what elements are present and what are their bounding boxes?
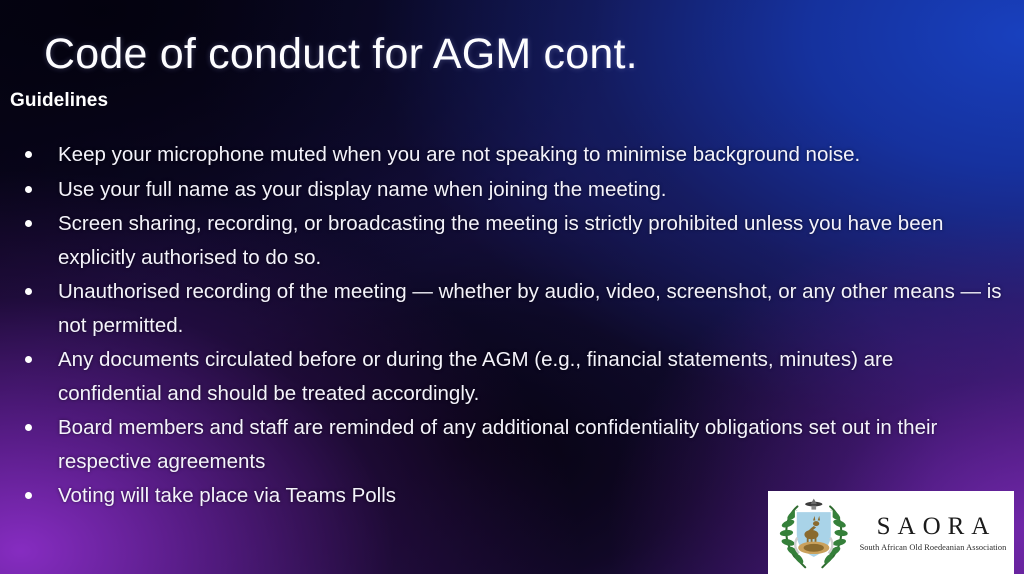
- list-item: Screen sharing, recording, or broadcasti…: [10, 207, 1010, 274]
- bullet-dot-icon: [25, 151, 32, 158]
- list-item-text: Keep your microphone muted when you are …: [58, 138, 953, 172]
- saora-crest-icon: [774, 494, 852, 572]
- list-item: Any documents circulated before or durin…: [10, 343, 1010, 410]
- list-item: Unauthorised recording of the meeting — …: [10, 275, 1010, 342]
- slide-title: Code of conduct for AGM cont.: [44, 32, 638, 78]
- bullet-dot-icon: [25, 424, 32, 431]
- bullet-dot-icon: [25, 356, 32, 363]
- list-item-text: Screen sharing, recording, or broadcasti…: [58, 207, 998, 274]
- list-item: Use your full name as your display name …: [10, 173, 1010, 207]
- list-item-text: Unauthorised recording of the meeting — …: [58, 275, 1003, 342]
- bullet-dot-icon: [25, 288, 32, 295]
- guidelines-bullet-list: Keep your microphone muted when you are …: [10, 138, 1010, 514]
- list-item-text: Any documents circulated before or durin…: [58, 343, 938, 410]
- bullet-dot-icon: [25, 492, 32, 499]
- logo-name: SAORA: [858, 513, 1008, 541]
- saora-logo: SAORA South African Old Roedeanian Assoc…: [768, 491, 1014, 574]
- section-heading-guidelines: Guidelines: [10, 90, 108, 112]
- presentation-slide: Code of conduct for AGM cont. Guidelines…: [0, 0, 1024, 574]
- bullet-dot-icon: [25, 186, 32, 193]
- list-item: Board members and staff are reminded of …: [10, 411, 1010, 478]
- bullet-dot-icon: [25, 220, 32, 227]
- logo-text-block: SAORA South African Old Roedeanian Assoc…: [858, 513, 1014, 552]
- logo-tagline: South African Old Roedeanian Association: [858, 543, 1008, 552]
- list-item-text: Use your full name as your display name …: [58, 173, 988, 207]
- list-item-text: Board members and staff are reminded of …: [58, 411, 1003, 478]
- list-item: Keep your microphone muted when you are …: [10, 138, 1010, 172]
